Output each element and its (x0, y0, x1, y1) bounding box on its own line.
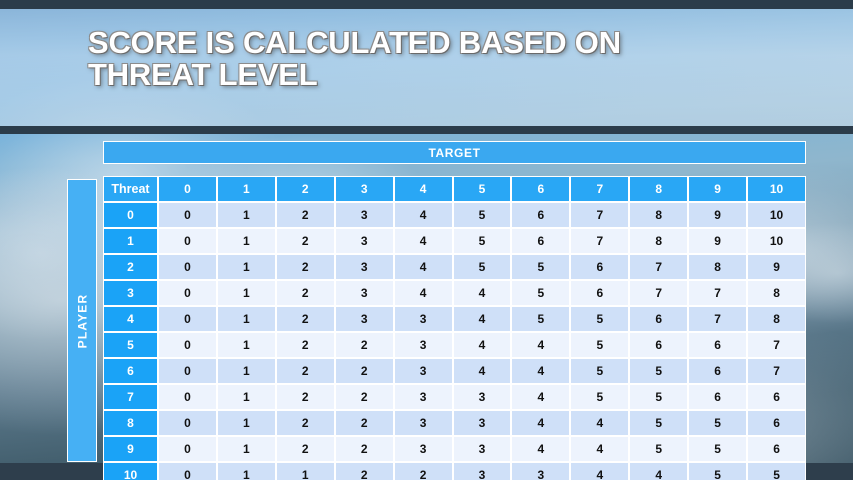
matrix-cell-r9-c2: 2 (276, 436, 335, 462)
matrix-cell-r9-c5: 3 (453, 436, 512, 462)
matrix-cell-r1-c9: 9 (688, 228, 747, 254)
matrix-cell-r6-c6: 4 (511, 358, 570, 384)
matrix-cell-r6-c7: 5 (570, 358, 629, 384)
matrix-cell-r10-c10: 5 (747, 462, 806, 480)
matrix-cell-r9-c8: 5 (629, 436, 688, 462)
table-row: 601223445567 (103, 358, 806, 384)
matrix-cell-r5-c1: 1 (217, 332, 276, 358)
matrix-col-header-2: 2 (276, 176, 335, 202)
matrix-cell-r2-c10: 9 (747, 254, 806, 280)
table-row: 501223445667 (103, 332, 806, 358)
matrix-cell-r5-c5: 4 (453, 332, 512, 358)
table-row: 1012345678910 (103, 228, 806, 254)
matrix-cell-r1-c8: 8 (629, 228, 688, 254)
matrix-cell-r7-c5: 3 (453, 384, 512, 410)
matrix-cell-r2-c7: 6 (570, 254, 629, 280)
matrix-cell-r7-c10: 6 (747, 384, 806, 410)
matrix-row-header-10: 10 (103, 462, 158, 480)
matrix-row-header-5: 5 (103, 332, 158, 358)
matrix-header-row: Threat 012345678910 (103, 176, 806, 202)
matrix-cell-r8-c10: 6 (747, 410, 806, 436)
matrix-cell-r1-c3: 3 (335, 228, 394, 254)
matrix-cell-r0-c4: 4 (394, 202, 453, 228)
matrix-cell-r4-c2: 2 (276, 306, 335, 332)
matrix-cell-r7-c2: 2 (276, 384, 335, 410)
matrix-cell-r5-c3: 2 (335, 332, 394, 358)
table-row: 301234456778 (103, 280, 806, 306)
matrix-cell-r1-c1: 1 (217, 228, 276, 254)
matrix-cell-r6-c3: 2 (335, 358, 394, 384)
player-axis-label: PLAYER (75, 293, 89, 348)
matrix-row-header-4: 4 (103, 306, 158, 332)
matrix-body: 0012345678910101234567891020123455678930… (103, 202, 806, 480)
matrix-cell-r6-c8: 5 (629, 358, 688, 384)
matrix-cell-r10-c1: 1 (217, 462, 276, 480)
matrix-cell-r2-c8: 7 (629, 254, 688, 280)
matrix-cell-r10-c4: 2 (394, 462, 453, 480)
matrix-cell-r10-c3: 2 (335, 462, 394, 480)
matrix-cell-r4-c9: 7 (688, 306, 747, 332)
matrix-cell-r3-c7: 6 (570, 280, 629, 306)
matrix-cell-r10-c2: 1 (276, 462, 335, 480)
matrix-cell-r6-c9: 6 (688, 358, 747, 384)
matrix-cell-r2-c3: 3 (335, 254, 394, 280)
matrix-col-header-3: 3 (335, 176, 394, 202)
matrix-cell-r3-c9: 7 (688, 280, 747, 306)
matrix-col-header-1: 1 (217, 176, 276, 202)
matrix-cell-r0-c10: 10 (747, 202, 806, 228)
matrix-corner-header: Threat (103, 176, 158, 202)
matrix-cell-r0-c8: 8 (629, 202, 688, 228)
matrix-cell-r4-c0: 0 (158, 306, 217, 332)
matrix-row-header-9: 9 (103, 436, 158, 462)
target-axis-label: TARGET (428, 146, 480, 160)
matrix-cell-r6-c1: 1 (217, 358, 276, 384)
matrix-cell-r2-c6: 5 (511, 254, 570, 280)
matrix-cell-r1-c10: 10 (747, 228, 806, 254)
matrix-cell-r7-c3: 2 (335, 384, 394, 410)
matrix-cell-r2-c0: 0 (158, 254, 217, 280)
matrix-cell-r0-c7: 7 (570, 202, 629, 228)
matrix-cell-r7-c7: 5 (570, 384, 629, 410)
matrix-cell-r6-c2: 2 (276, 358, 335, 384)
matrix-row-header-1: 1 (103, 228, 158, 254)
matrix-col-header-5: 5 (453, 176, 512, 202)
matrix-cell-r2-c2: 2 (276, 254, 335, 280)
matrix-cell-r8-c7: 4 (570, 410, 629, 436)
top-dark-strip (0, 0, 853, 9)
table-row: 401233455678 (103, 306, 806, 332)
matrix-cell-r3-c3: 3 (335, 280, 394, 306)
matrix-cell-r3-c2: 2 (276, 280, 335, 306)
matrix-cell-r0-c9: 9 (688, 202, 747, 228)
table-row: 0012345678910 (103, 202, 806, 228)
table-row: 801223344556 (103, 410, 806, 436)
matrix-cell-r10-c5: 3 (453, 462, 512, 480)
matrix-cell-r0-c0: 0 (158, 202, 217, 228)
matrix-cell-r3-c4: 4 (394, 280, 453, 306)
target-axis-banner: TARGET (103, 141, 806, 164)
matrix-row-header-7: 7 (103, 384, 158, 410)
matrix-cell-r7-c0: 0 (158, 384, 217, 410)
matrix-cell-r1-c2: 2 (276, 228, 335, 254)
matrix-col-header-10: 10 (747, 176, 806, 202)
matrix-cell-r4-c1: 1 (217, 306, 276, 332)
matrix-cell-r5-c6: 4 (511, 332, 570, 358)
matrix-cell-r7-c6: 4 (511, 384, 570, 410)
matrix-cell-r1-c4: 4 (394, 228, 453, 254)
matrix-cell-r7-c8: 5 (629, 384, 688, 410)
matrix-cell-r10-c0: 0 (158, 462, 217, 480)
matrix-cell-r3-c6: 5 (511, 280, 570, 306)
matrix-cell-r8-c8: 5 (629, 410, 688, 436)
matrix-cell-r0-c2: 2 (276, 202, 335, 228)
matrix-cell-r0-c3: 3 (335, 202, 394, 228)
matrix-cell-r9-c10: 6 (747, 436, 806, 462)
matrix-row-header-0: 0 (103, 202, 158, 228)
player-axis-banner: PLAYER (67, 179, 97, 462)
matrix-cell-r5-c9: 6 (688, 332, 747, 358)
matrix-col-header-4: 4 (394, 176, 453, 202)
matrix-row-header-3: 3 (103, 280, 158, 306)
matrix-cell-r3-c10: 8 (747, 280, 806, 306)
matrix-col-header-9: 9 (688, 176, 747, 202)
page-title: SCORE IS CALCULATED BASED ON THREAT LEVE… (88, 27, 728, 91)
matrix-cell-r4-c8: 6 (629, 306, 688, 332)
matrix-cell-r7-c1: 1 (217, 384, 276, 410)
matrix-cell-r9-c4: 3 (394, 436, 453, 462)
matrix-cell-r3-c5: 4 (453, 280, 512, 306)
matrix-cell-r6-c0: 0 (158, 358, 217, 384)
title-underline-strip (0, 126, 853, 134)
matrix-col-header-6: 6 (511, 176, 570, 202)
matrix-cell-r5-c4: 3 (394, 332, 453, 358)
matrix-row-header-2: 2 (103, 254, 158, 280)
matrix-cell-r8-c6: 4 (511, 410, 570, 436)
matrix-cell-r10-c9: 5 (688, 462, 747, 480)
matrix-cell-r2-c4: 4 (394, 254, 453, 280)
matrix-cell-r2-c9: 8 (688, 254, 747, 280)
table-row: 1001122334455 (103, 462, 806, 480)
matrix-cell-r1-c6: 6 (511, 228, 570, 254)
matrix-cell-r4-c10: 8 (747, 306, 806, 332)
matrix-cell-r7-c4: 3 (394, 384, 453, 410)
matrix-cell-r4-c3: 3 (335, 306, 394, 332)
matrix-cell-r8-c5: 3 (453, 410, 512, 436)
matrix-cell-r9-c6: 4 (511, 436, 570, 462)
matrix-cell-r8-c3: 2 (335, 410, 394, 436)
matrix-cell-r4-c6: 5 (511, 306, 570, 332)
matrix-cell-r2-c5: 5 (453, 254, 512, 280)
matrix-row-header-8: 8 (103, 410, 158, 436)
matrix-cell-r3-c8: 7 (629, 280, 688, 306)
matrix-cell-r3-c0: 0 (158, 280, 217, 306)
matrix-cell-r6-c5: 4 (453, 358, 512, 384)
matrix-cell-r2-c1: 1 (217, 254, 276, 280)
matrix-cell-r4-c7: 5 (570, 306, 629, 332)
matrix-cell-r0-c5: 5 (453, 202, 512, 228)
matrix-cell-r8-c9: 5 (688, 410, 747, 436)
matrix-cell-r6-c10: 7 (747, 358, 806, 384)
table-row: 901223344556 (103, 436, 806, 462)
matrix-cell-r0-c1: 1 (217, 202, 276, 228)
matrix-col-header-8: 8 (629, 176, 688, 202)
matrix-cell-r5-c7: 5 (570, 332, 629, 358)
matrix-cell-r1-c7: 7 (570, 228, 629, 254)
matrix-cell-r10-c8: 4 (629, 462, 688, 480)
matrix-cell-r5-c10: 7 (747, 332, 806, 358)
matrix-cell-r5-c2: 2 (276, 332, 335, 358)
matrix-cell-r7-c9: 6 (688, 384, 747, 410)
matrix-row-header-6: 6 (103, 358, 158, 384)
matrix-cell-r8-c4: 3 (394, 410, 453, 436)
matrix-cell-r10-c7: 4 (570, 462, 629, 480)
matrix-cell-r8-c0: 0 (158, 410, 217, 436)
matrix-cell-r8-c2: 2 (276, 410, 335, 436)
matrix-cell-r9-c9: 5 (688, 436, 747, 462)
matrix-cell-r1-c5: 5 (453, 228, 512, 254)
matrix-cell-r4-c4: 3 (394, 306, 453, 332)
matrix-cell-r8-c1: 1 (217, 410, 276, 436)
matrix-cell-r5-c8: 6 (629, 332, 688, 358)
table-row: 701223345566 (103, 384, 806, 410)
matrix-cell-r9-c3: 2 (335, 436, 394, 462)
matrix-cell-r10-c6: 3 (511, 462, 570, 480)
score-matrix-table: Threat 012345678910 00123456789101012345… (103, 176, 806, 480)
matrix-cell-r9-c7: 4 (570, 436, 629, 462)
matrix-cell-r3-c1: 1 (217, 280, 276, 306)
matrix-cell-r4-c5: 4 (453, 306, 512, 332)
matrix-cell-r9-c0: 0 (158, 436, 217, 462)
table-row: 201234556789 (103, 254, 806, 280)
matrix-cell-r5-c0: 0 (158, 332, 217, 358)
matrix-cell-r1-c0: 0 (158, 228, 217, 254)
matrix-cell-r9-c1: 1 (217, 436, 276, 462)
matrix-cell-r0-c6: 6 (511, 202, 570, 228)
matrix-col-header-0: 0 (158, 176, 217, 202)
matrix-col-header-7: 7 (570, 176, 629, 202)
matrix-cell-r6-c4: 3 (394, 358, 453, 384)
